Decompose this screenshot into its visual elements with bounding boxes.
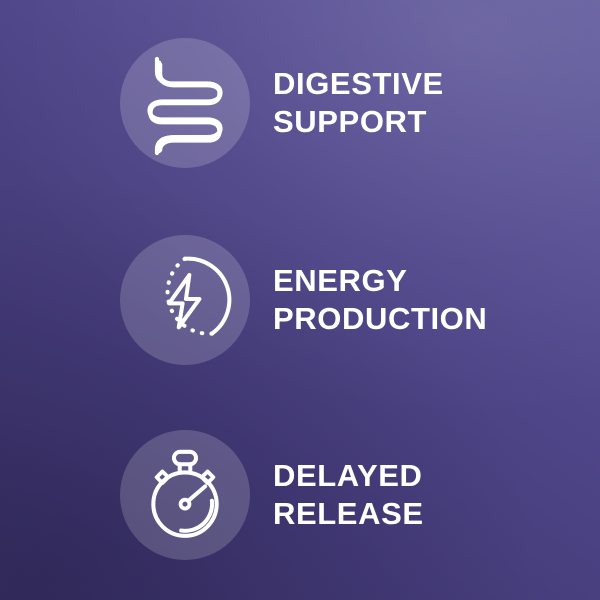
stopwatch-icon: [137, 447, 233, 543]
benefit-label-energy: Energy Production: [273, 262, 487, 338]
benefit-label-digestive: Digestive Support: [273, 65, 444, 141]
icon-badge-delayed: [120, 430, 250, 560]
icon-badge-energy: [120, 235, 250, 365]
lightning-bolt-icon: [137, 252, 233, 348]
intestine-icon-final: [135, 53, 235, 153]
benefits-list: Digestive Support Energy Production: [0, 0, 600, 600]
benefits-graphic: Digestive Support Energy Production: [0, 0, 600, 600]
benefit-item-delayed-release: Delayed Release: [0, 415, 600, 575]
benefit-label-delayed: Delayed Release: [273, 457, 424, 533]
icon-badge-digestive: [120, 38, 250, 168]
benefit-item-digestive-support: Digestive Support: [0, 23, 600, 183]
benefit-item-energy-production: Energy Production: [0, 220, 600, 380]
